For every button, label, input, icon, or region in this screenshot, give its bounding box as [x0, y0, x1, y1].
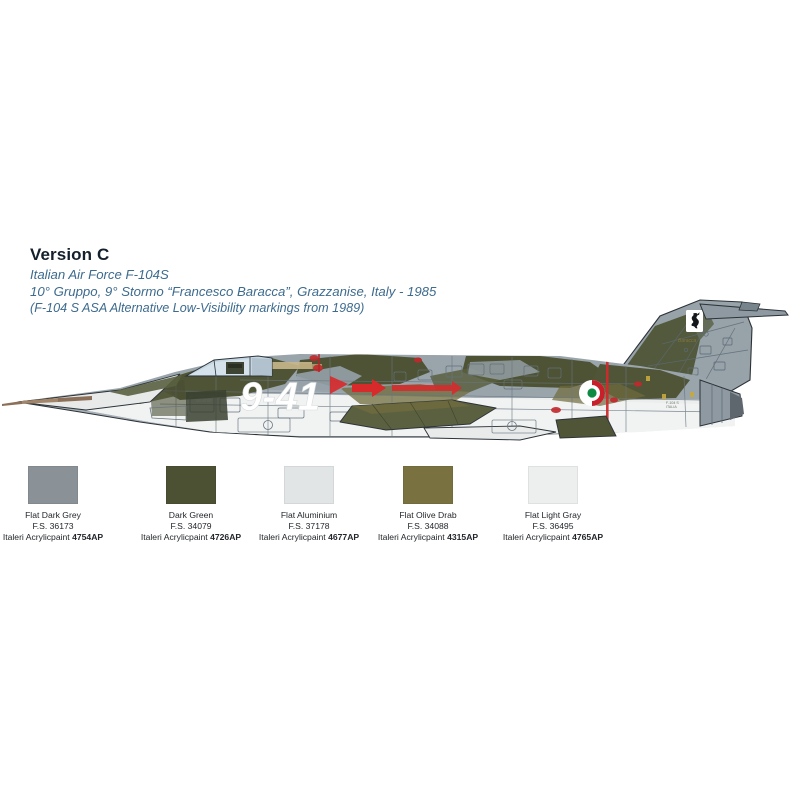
prancing-horse-emblem [686, 310, 703, 332]
paint-chip [28, 466, 78, 504]
paint-color-legend: Flat Dark Grey F.S. 36173 Italeri Acryli… [0, 466, 800, 556]
tail-code-text: 9-41 [240, 375, 320, 419]
paint-brand: Italeri Acrylicpaint [3, 532, 70, 542]
paint-code-value: 4754AP [72, 532, 103, 542]
roundel [579, 380, 605, 406]
paint-fs-code: F.S. 36173 [0, 521, 128, 532]
paint-brand: Italeri Acrylicpaint [141, 532, 208, 542]
paint-fs-code: F.S. 36495 [478, 521, 628, 532]
svg-text:ITALIA: ITALIA [666, 405, 677, 409]
aircraft-profile-illustration: Baracca [0, 280, 800, 455]
paint-code-value: 4765AP [572, 532, 603, 542]
paint-chip [166, 466, 216, 504]
paint-name: Flat Dark Grey [0, 510, 128, 521]
paint-chip [528, 466, 578, 504]
paint-brand: Italeri Acrylicpaint [259, 532, 326, 542]
painting-guide-page: Version C Italian Air Force F-104S 10° G… [0, 0, 800, 800]
paint-brand: Italeri Acrylicpaint [503, 532, 570, 542]
cockpit-canopy [186, 356, 272, 376]
svg-text:NO STEP: NO STEP [196, 399, 212, 403]
paint-name: Flat Light Gray [478, 510, 628, 521]
paint-swatch-item: Flat Light Gray F.S. 36495 Italeri Acryl… [478, 466, 628, 543]
paint-product-code: Italeri Acrylicpaint 4765AP [478, 532, 628, 543]
page-title: Version C [30, 245, 630, 265]
paint-brand: Italeri Acrylicpaint [378, 532, 445, 542]
paint-product-code: Italeri Acrylicpaint 4754AP [0, 532, 128, 543]
paint-code-value: 4315AP [447, 532, 478, 542]
paint-swatch-item: Flat Dark Grey F.S. 36173 Italeri Acryli… [0, 466, 128, 543]
svg-text:Baracca: Baracca [678, 338, 697, 344]
paint-chip [403, 466, 453, 504]
paint-chip [284, 466, 334, 504]
